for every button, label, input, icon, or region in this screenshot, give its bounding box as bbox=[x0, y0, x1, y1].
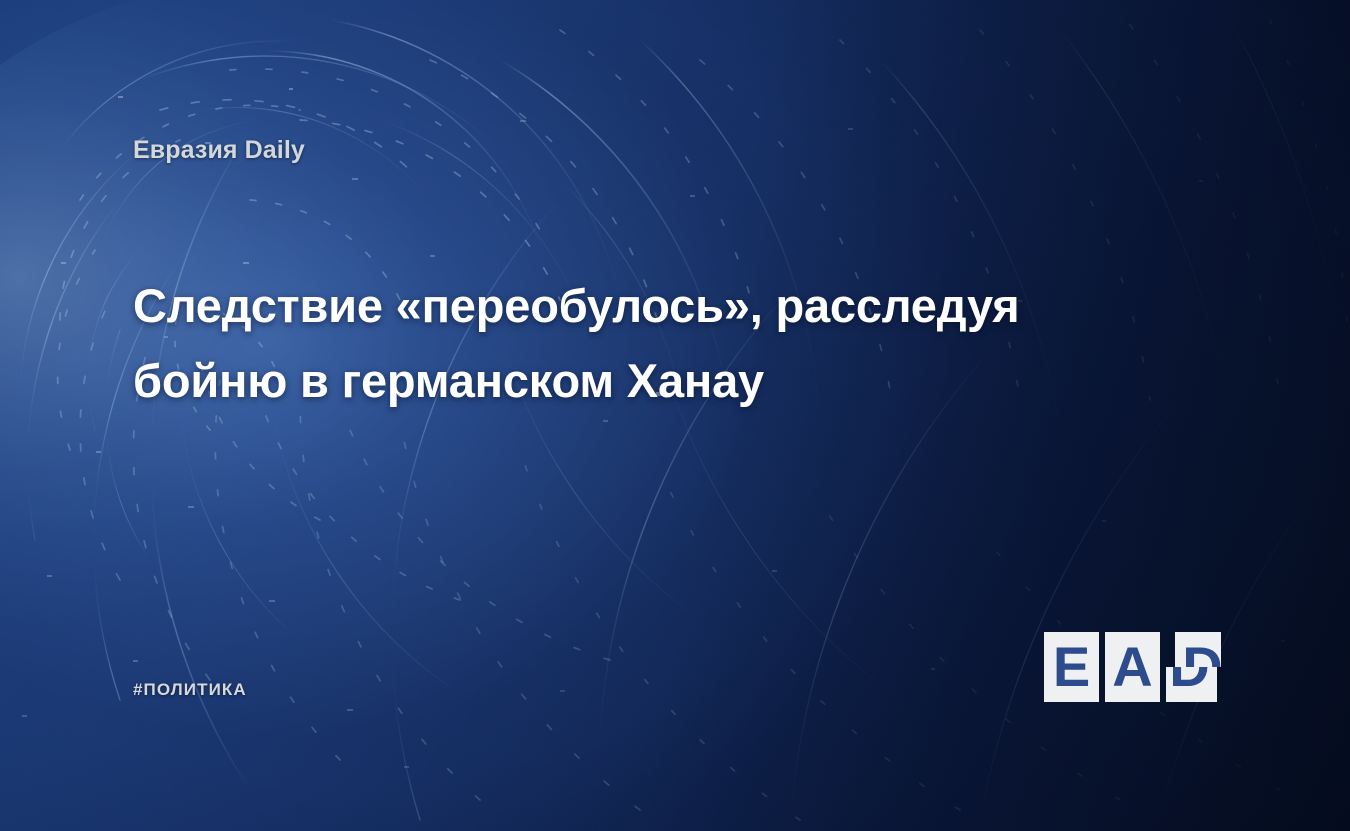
category-hashtag[interactable]: #ПОЛИТИКА bbox=[133, 680, 247, 700]
news-card: Евразия Daily Следствие «переобулось», р… bbox=[0, 0, 1350, 831]
ead-letter-e: E bbox=[1044, 632, 1099, 702]
ead-logo-tile-d: D D bbox=[1166, 632, 1221, 702]
card-content: Евразия Daily Следствие «переобулось», р… bbox=[0, 0, 1350, 831]
ead-letter-a: A bbox=[1105, 632, 1160, 702]
headline-line-2: бойню в германском Ханау bbox=[133, 343, 1173, 418]
ead-letter-d-bottom-half: D bbox=[1166, 667, 1217, 702]
ead-letter-d-upper: D bbox=[1175, 632, 1221, 667]
page-title: Следствие «переобулось», расследуя бойню… bbox=[133, 268, 1173, 418]
headline-line-1: Следствие «переобулось», расследуя bbox=[133, 268, 1173, 343]
ead-logo[interactable]: E A D D bbox=[1044, 632, 1222, 702]
brand-wordmark[interactable]: Евразия Daily bbox=[133, 136, 305, 165]
ead-logo-tile-e: E bbox=[1044, 632, 1099, 702]
ead-logo-tile-a: A bbox=[1105, 632, 1160, 702]
ead-letter-d-lower: D bbox=[1166, 667, 1217, 702]
ead-letter-d-top-half: D bbox=[1175, 632, 1221, 667]
